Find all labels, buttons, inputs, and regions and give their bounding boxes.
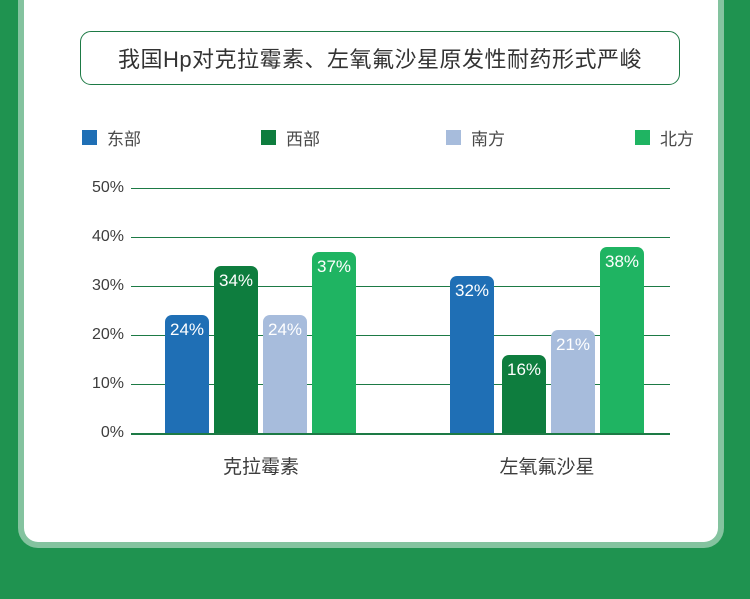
legend-item-3[interactable]: 北方 — [635, 124, 694, 150]
chart-title-box: 我国Hp对克拉霉素、左氧氟沙星原发性耐药形式严峻 — [80, 31, 680, 85]
infographic-page: 我国Hp对克拉霉素、左氧氟沙星原发性耐药形式严峻 东部 西部 南方 北方 50%… — [0, 0, 750, 599]
legend-label-2: 南方 — [471, 125, 505, 150]
legend-swatch-icon-1 — [261, 130, 276, 145]
legend-swatch-icon-0 — [82, 130, 97, 145]
legend-label-0: 东部 — [107, 125, 141, 150]
legend-swatch-icon-3 — [635, 130, 650, 145]
chart-title: 我国Hp对克拉霉素、左氧氟沙星原发性耐药形式严峻 — [118, 42, 642, 74]
legend-label-3: 北方 — [660, 125, 694, 150]
chart-legend: 东部 西部 南方 北方 — [80, 124, 680, 150]
legend-item-1[interactable]: 西部 — [261, 124, 320, 150]
legend-swatch-icon-2 — [446, 130, 461, 145]
legend-item-0[interactable]: 东部 — [82, 124, 141, 150]
legend-item-2[interactable]: 南方 — [446, 124, 505, 150]
legend-label-1: 西部 — [286, 125, 320, 150]
